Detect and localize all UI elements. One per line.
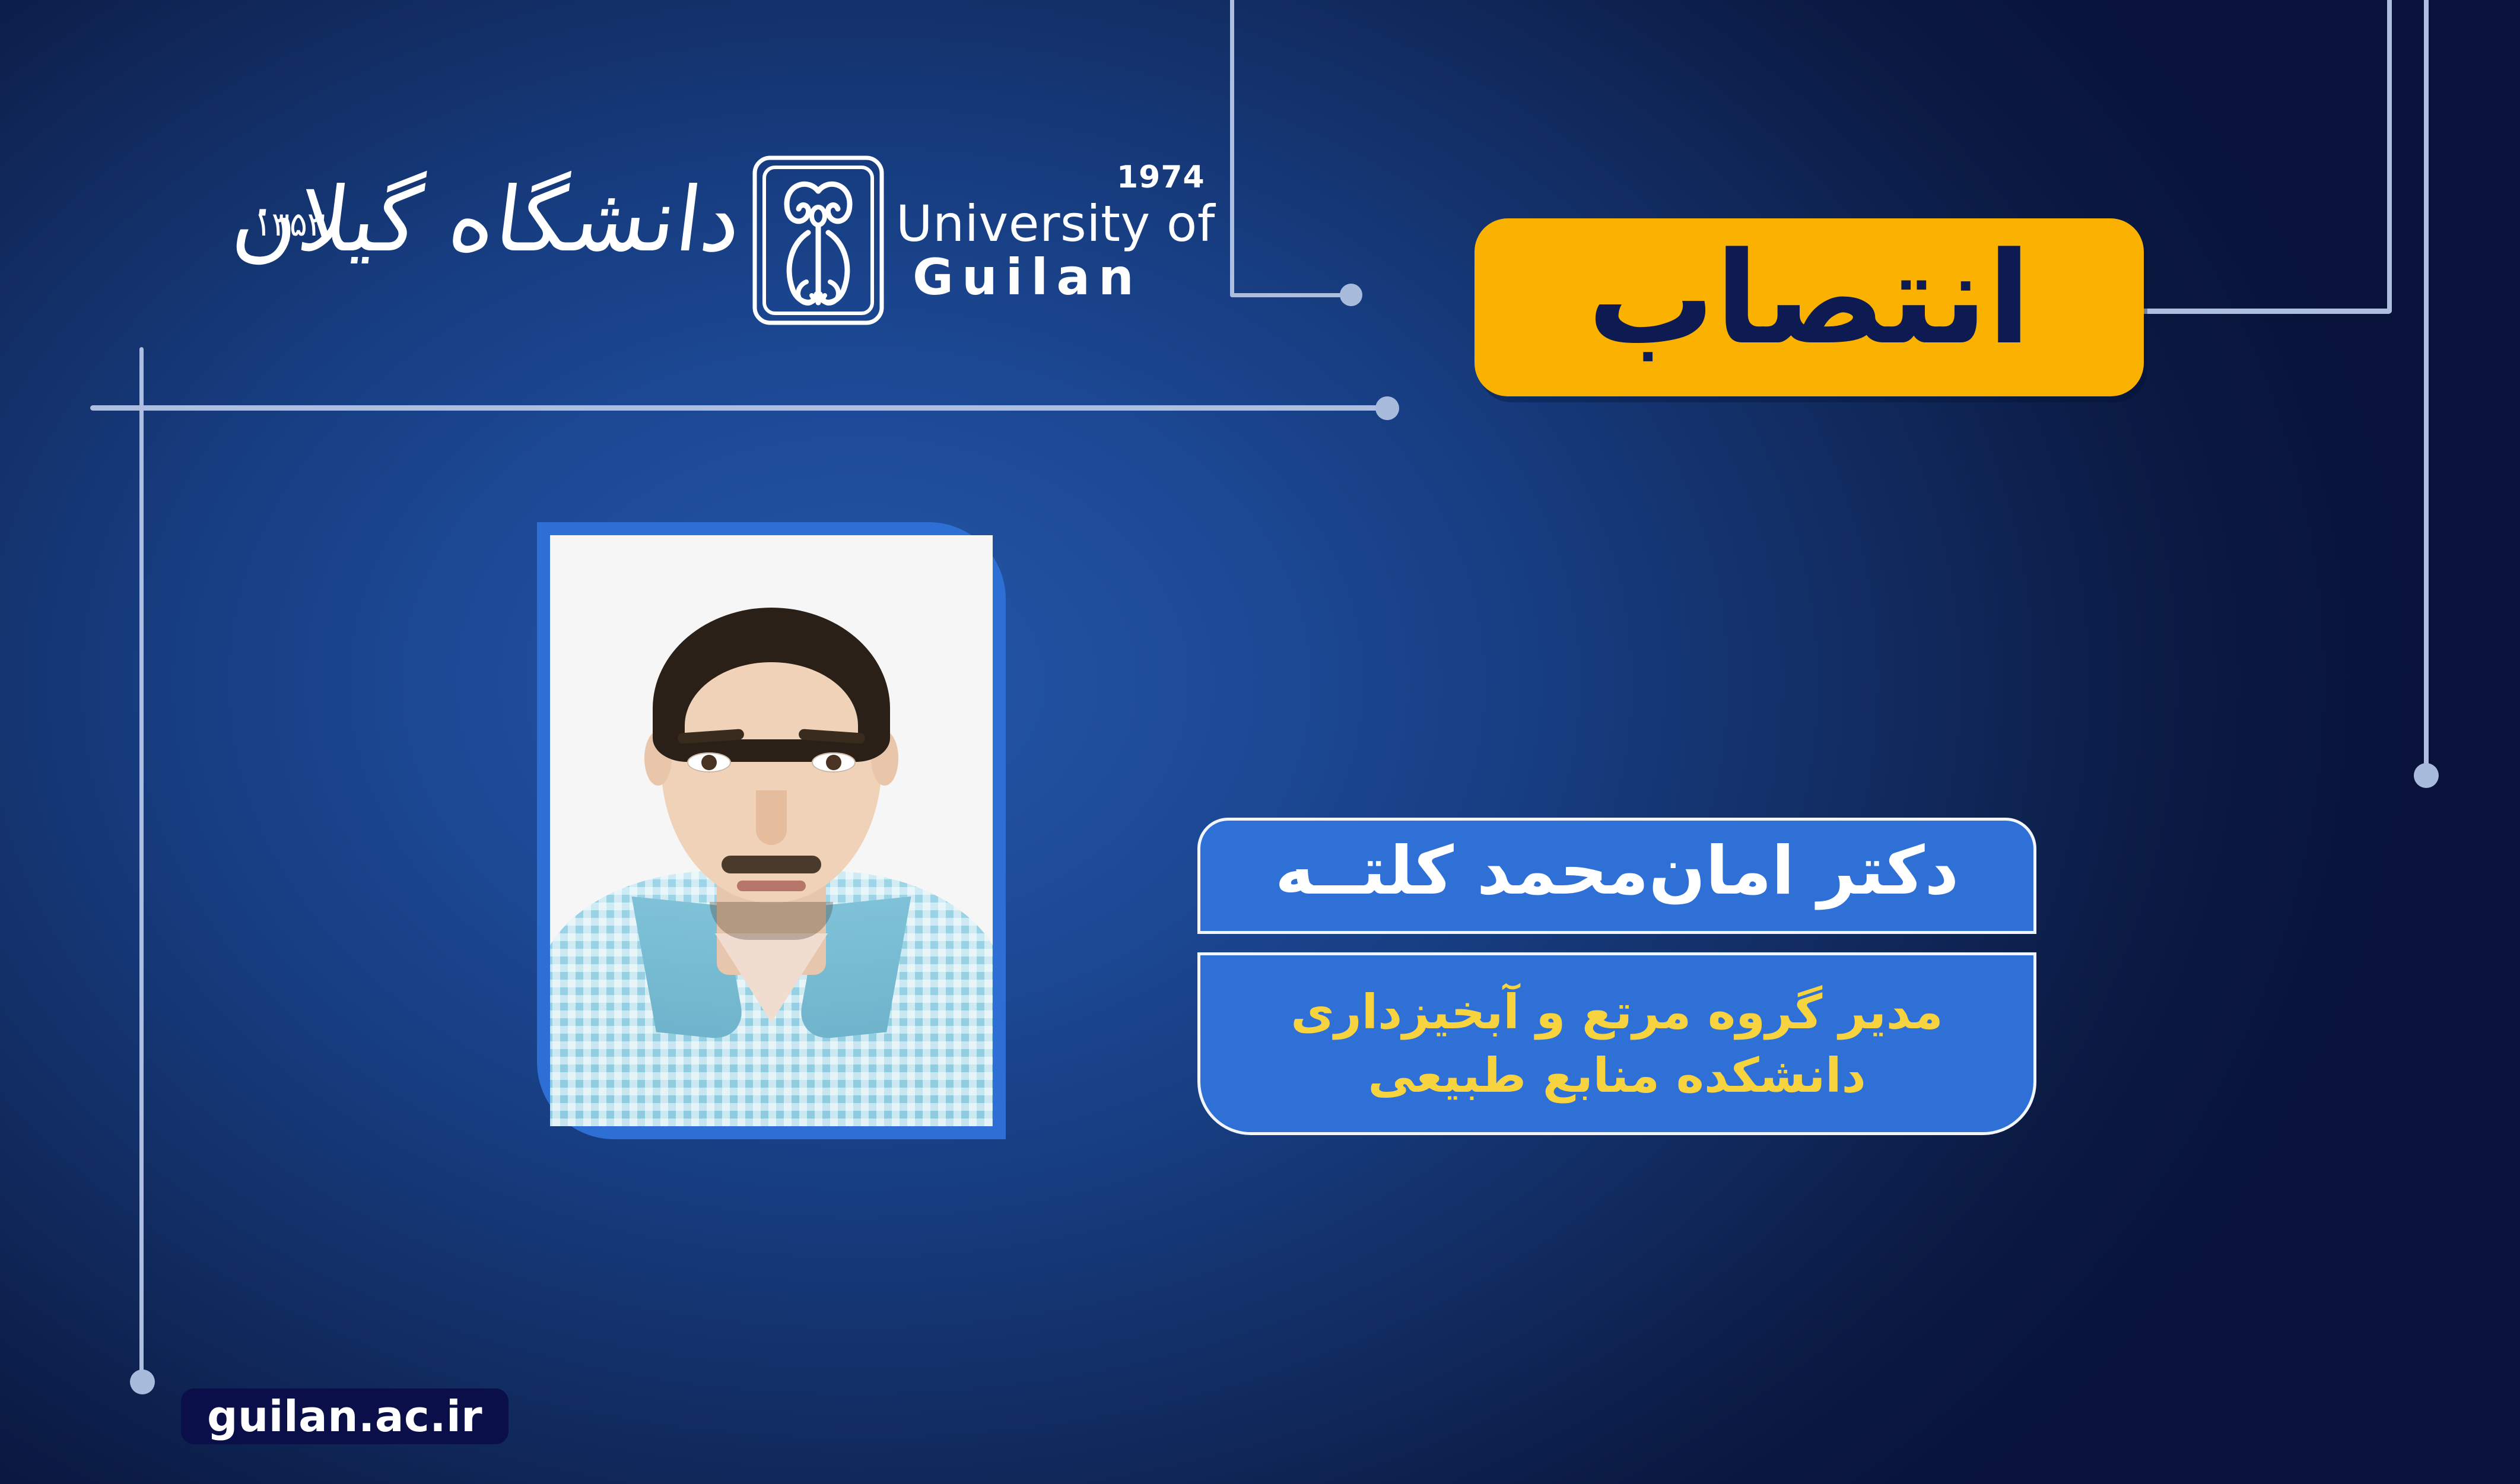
- appointment-badge-label: انتصاب: [1587, 236, 2030, 363]
- guilan-emblem-icon: [750, 154, 886, 326]
- decor-dot-top-center: [1340, 284, 1362, 306]
- person-name: دکتر امان‌محمد کلتــه: [1275, 838, 1959, 904]
- logo-persian-text: دانشگاه گیلان ۱۳۵۳: [206, 154, 741, 326]
- logo-english-line2: Guilan: [896, 252, 1228, 302]
- decor-line-right-outer-vertical: [2424, 0, 2429, 770]
- portrait-photo: [550, 535, 993, 1126]
- decor-line-top-center-vertical: [1230, 0, 1234, 297]
- portrait-frame: [537, 522, 1006, 1139]
- website-url-pill[interactable]: guilan.ac.ir: [181, 1388, 509, 1444]
- decor-dot-header-right: [1375, 396, 1399, 420]
- decor-dot-right-outer: [2414, 763, 2439, 788]
- appointment-poster: 1974 University of Guilan دانشگاه گیلان …: [0, 0, 2520, 1484]
- decor-dot-bottom-left: [130, 1369, 155, 1394]
- logo-english-line1: University of: [896, 199, 1228, 249]
- decor-line-badge-right-horizontal: [2112, 309, 2391, 314]
- appointment-badge: انتصاب: [1474, 218, 2144, 396]
- decor-line-header-horizontal: [90, 405, 1390, 411]
- decor-line-left-vertical: [139, 347, 144, 1380]
- person-name-card: دکتر امان‌محمد کلتــه: [1197, 818, 2036, 934]
- logo-founding-year-fa: ۱۳۵۳: [254, 205, 325, 244]
- logo-founding-year-en: 1974: [1117, 162, 1205, 193]
- person-title-card: مدیر گروه مرتع و آبخیزداری دانشکده منابع…: [1197, 952, 2036, 1135]
- website-url: guilan.ac.ir: [207, 1391, 482, 1441]
- person-position: مدیر گروه مرتع و آبخیزداری: [1291, 980, 1943, 1044]
- logo-english-text: 1974 University of Guilan: [896, 179, 1228, 302]
- decor-line-right-inner-vertical: [2387, 0, 2392, 313]
- decor-line-top-center-horizontal: [1230, 293, 1349, 297]
- person-faculty: دانشکده منابع طبیعی: [1368, 1044, 1866, 1107]
- university-logo: 1974 University of Guilan دانشگاه گیلان …: [178, 151, 1228, 329]
